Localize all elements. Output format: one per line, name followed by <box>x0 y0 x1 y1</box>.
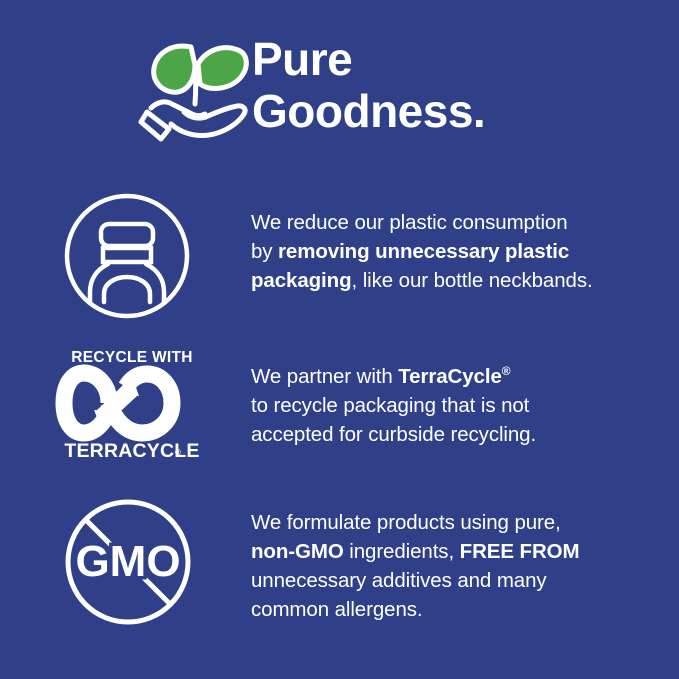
benefit-row-terracycle: RECYCLE WITH ® TERRACYCLE <box>0 340 679 488</box>
benefit-row-plastic: We reduce our plastic consumptionby remo… <box>0 186 679 336</box>
benefit-text-line: packaging, like our bottle neckbands. <box>251 266 663 295</box>
benefit-text-terracycle: We partner with TerraCycle®to recycle pa… <box>251 362 663 449</box>
benefit-text-line: unnecessary additives and many <box>251 566 663 595</box>
benefit-text-line: by removing unnecessary plastic <box>251 237 663 266</box>
benefit-text-line: We formulate products using pure, <box>251 508 663 537</box>
benefit-text-line: We partner with TerraCycle® <box>251 362 663 391</box>
header: Pure Goodness. <box>0 0 679 172</box>
page-title-line-1: Pure <box>252 33 672 85</box>
no-gmo-circle-slash-icon: GMO <box>60 492 200 632</box>
pure-goodness-infographic: Pure Goodness. We reduce our plastic con… <box>0 0 679 679</box>
benefit-text-line: accepted for curbside recycling. <box>251 420 663 449</box>
page-title: Pure Goodness. <box>252 33 672 137</box>
terracycle-badge: RECYCLE WITH ® TERRACYCLE <box>58 340 206 470</box>
infinity-recycle-arrows-icon: ® <box>62 370 202 436</box>
bottle-in-circle-icon <box>60 186 200 326</box>
page-title-line-2: Goodness. <box>252 85 672 137</box>
terracycle-bottom-label: TERRACYCLE <box>58 440 206 463</box>
hand-holding-sprout-icon <box>143 34 251 142</box>
benefit-text-line: to recycle packaging that is not <box>251 391 663 420</box>
gmo-icon-label: GMO <box>75 537 180 586</box>
terracycle-top-label: RECYCLE WITH <box>58 349 206 367</box>
benefit-text-line: non-GMO ingredients, FREE FROM <box>251 537 663 566</box>
benefit-text-plastic: We reduce our plastic consumptionby remo… <box>251 208 663 295</box>
terracycle-recycle-logo: RECYCLE WITH ® TERRACYCLE <box>58 340 206 470</box>
benefit-text-line: We reduce our plastic consumption <box>251 208 663 237</box>
benefit-text-gmo: We formulate products using pure,non-GMO… <box>251 508 663 624</box>
benefit-row-gmo: GMO We formulate products using pure,non… <box>0 492 679 644</box>
benefit-text-line: common allergens. <box>251 595 663 624</box>
